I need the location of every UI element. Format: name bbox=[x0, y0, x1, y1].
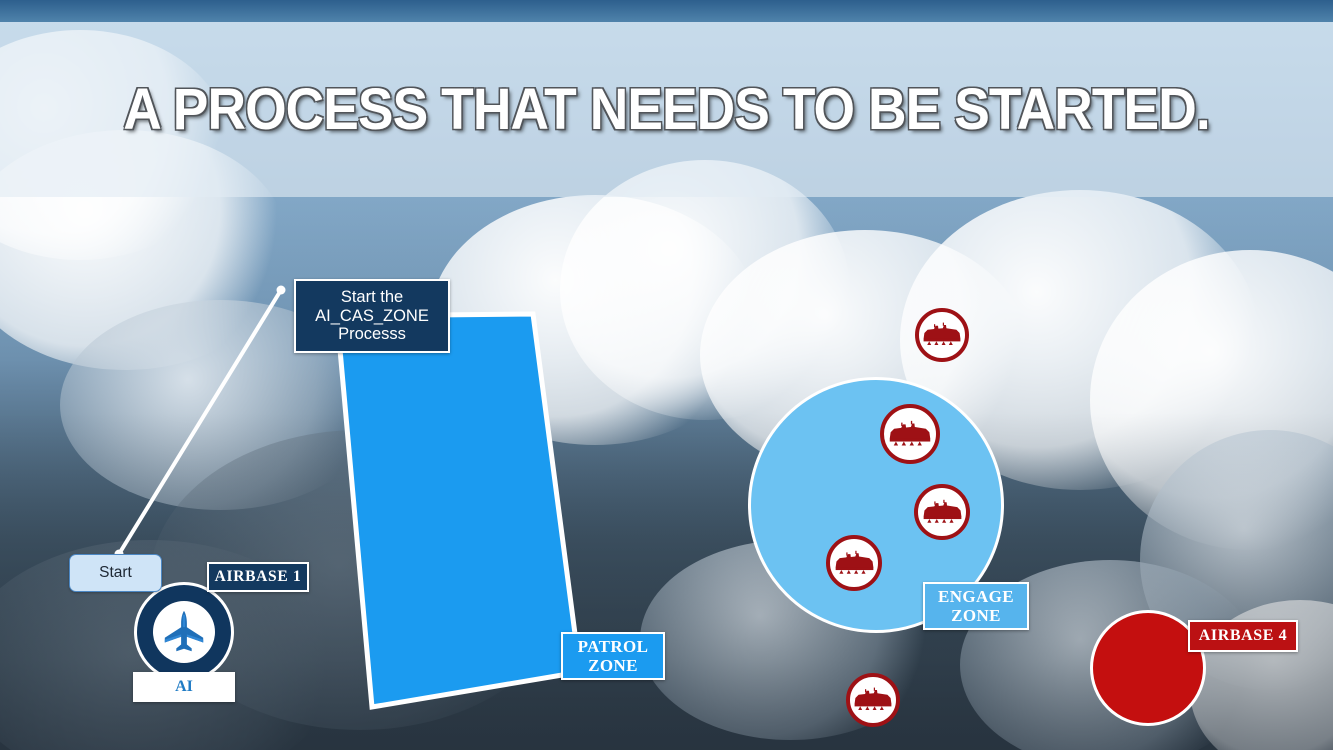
engage-zone-label[interactable]: ENGAGE ZONE bbox=[923, 582, 1029, 630]
armored-vehicle-icon bbox=[834, 549, 875, 578]
friendly-airbase-marker[interactable] bbox=[134, 582, 234, 682]
armored-vehicle-icon bbox=[853, 686, 893, 714]
hostile-unit-marker[interactable] bbox=[914, 484, 970, 540]
start-button-label: Start bbox=[99, 564, 132, 582]
hostile-unit-marker[interactable] bbox=[915, 308, 969, 362]
hostile-unit-marker[interactable] bbox=[880, 404, 940, 464]
patrol-zone-polygon[interactable] bbox=[337, 314, 580, 707]
start-button[interactable]: Start bbox=[69, 554, 162, 592]
airbase-1-label[interactable]: AIRBASE 1 bbox=[207, 562, 309, 592]
patrol-zone-label[interactable]: PATROL ZONE bbox=[561, 632, 665, 680]
jet-icon-disc bbox=[153, 601, 215, 663]
process-callout[interactable]: Start the AI_CAS_ZONE Processs bbox=[294, 279, 450, 353]
slide-canvas: A PROCESS THAT NEEDS TO BE STARTED. bbox=[0, 0, 1333, 750]
armored-vehicle-icon bbox=[888, 419, 932, 450]
armored-vehicle-icon bbox=[922, 321, 962, 349]
start-to-process-connector bbox=[115, 286, 286, 559]
fighter-jet-icon bbox=[160, 608, 208, 656]
armored-vehicle-icon bbox=[922, 498, 963, 527]
airbase-4-label[interactable]: AIRBASE 4 bbox=[1188, 620, 1298, 652]
hostile-unit-marker[interactable] bbox=[846, 673, 900, 727]
ai-unit-label[interactable]: AI bbox=[133, 672, 235, 702]
hostile-unit-marker[interactable] bbox=[826, 535, 882, 591]
